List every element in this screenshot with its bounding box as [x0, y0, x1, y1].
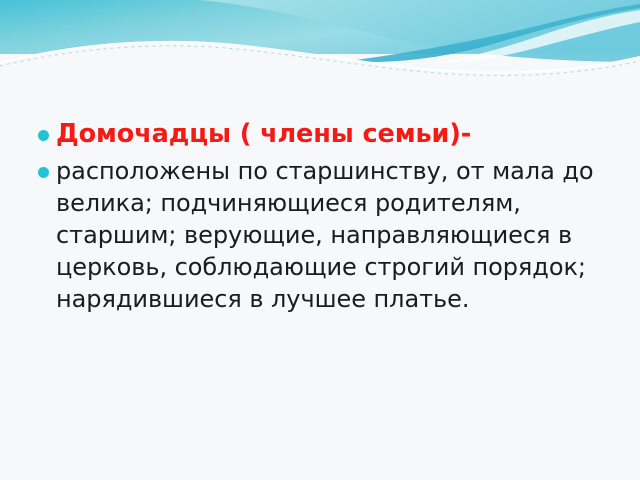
wave-ribbon-dark	[340, 4, 640, 62]
wave-ribbon-light	[200, 0, 640, 62]
bullet-item-body: расположены по старшинству, от мала до в…	[38, 155, 606, 315]
wave-highlight-line	[0, 42, 640, 73]
bullet-body-text: расположены по старшинству, от мала до в…	[56, 155, 606, 315]
slide-content: Домочадцы ( члены семьи)- расположены по…	[0, 118, 640, 319]
wave-white-sweep	[0, 41, 640, 80]
wave-graphic	[0, 0, 640, 80]
teal-wave-header-decoration	[0, 0, 640, 80]
bullet-title-text: Домочадцы ( члены семьи)-	[56, 118, 606, 151]
bullet-dot-icon	[38, 130, 49, 141]
wave-dashed-accent	[0, 46, 640, 76]
bullet-item-title: Домочадцы ( члены семьи)-	[38, 118, 606, 151]
wave-white-crescent	[434, 10, 640, 63]
bullet-dot-icon	[38, 167, 49, 178]
slide-canvas: Домочадцы ( члены семьи)- расположены по…	[0, 0, 640, 480]
wave-base-band	[0, 0, 640, 54]
